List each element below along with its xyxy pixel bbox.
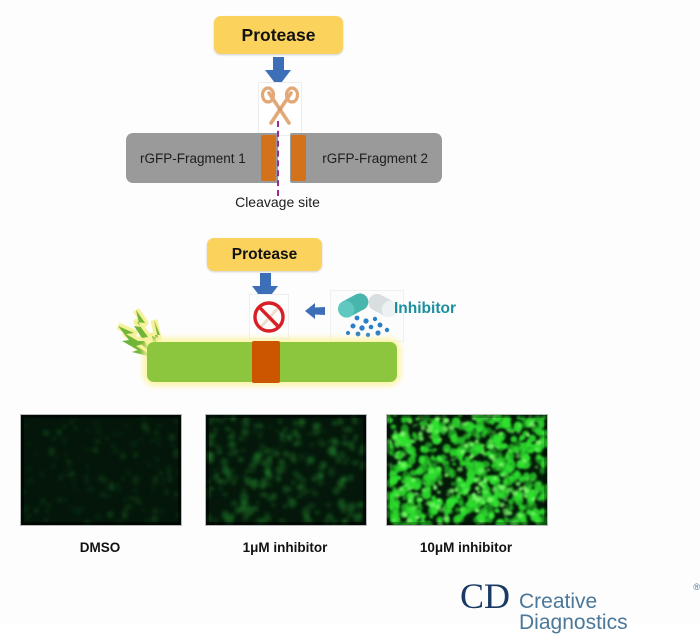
micrograph-label-dmso: DMSO bbox=[20, 540, 180, 555]
micrograph-inhibitor-1um bbox=[205, 414, 367, 526]
protease-label-top: Protease bbox=[242, 25, 316, 46]
no-entry-scissors-icon bbox=[250, 295, 288, 338]
arrow-left-icon bbox=[303, 300, 327, 322]
rgfp-fragment-1-bar: rGFP-Fragment 1 bbox=[126, 133, 278, 183]
micrograph-image bbox=[21, 415, 181, 525]
fragment-row: rGFP-Fragment 1 rGFP-Fragment 2 bbox=[0, 133, 700, 183]
protease-box-middle: Protease bbox=[207, 238, 322, 271]
capsule-pills-icon bbox=[331, 291, 403, 341]
protease-label-middle: Protease bbox=[232, 246, 297, 264]
rgfp-fragment-2-label: rGFP-Fragment 2 bbox=[322, 151, 428, 166]
micrograph-image bbox=[206, 415, 366, 525]
inhibitor-label: Inhibitor bbox=[394, 300, 456, 318]
linker-block-right bbox=[291, 135, 306, 181]
no-entry-panel bbox=[249, 294, 289, 339]
pills-panel bbox=[330, 290, 404, 342]
protease-box-top: Protease bbox=[214, 16, 343, 54]
micrograph-dmso bbox=[20, 414, 182, 526]
rgfp-fragment-1-label: rGFP-Fragment 1 bbox=[140, 151, 246, 166]
cleavage-site-label: Cleavage site bbox=[180, 194, 375, 210]
micrograph-inhibitor-10um bbox=[386, 414, 548, 526]
micrograph-image bbox=[387, 415, 547, 525]
scissors-icon bbox=[259, 83, 301, 135]
scissors-panel bbox=[258, 82, 302, 136]
logo-company-name: Creative Diagnostics bbox=[519, 591, 691, 633]
cleavage-site-dashed-line bbox=[277, 121, 279, 196]
intact-linker-block bbox=[252, 341, 280, 383]
micrograph-label-inhibitor-10um: 10μM inhibitor bbox=[386, 540, 546, 555]
logo-mark: CD bbox=[460, 578, 510, 614]
linker-block-left bbox=[261, 135, 276, 181]
micrograph-label-inhibitor-1um: 1μM inhibitor bbox=[205, 540, 365, 555]
registered-trademark-icon: ® bbox=[693, 582, 700, 592]
creative-diagnostics-logo: CD Creative Diagnostics ® bbox=[460, 578, 700, 633]
rgfp-fragment-2-bar: rGFP-Fragment 2 bbox=[290, 133, 442, 183]
